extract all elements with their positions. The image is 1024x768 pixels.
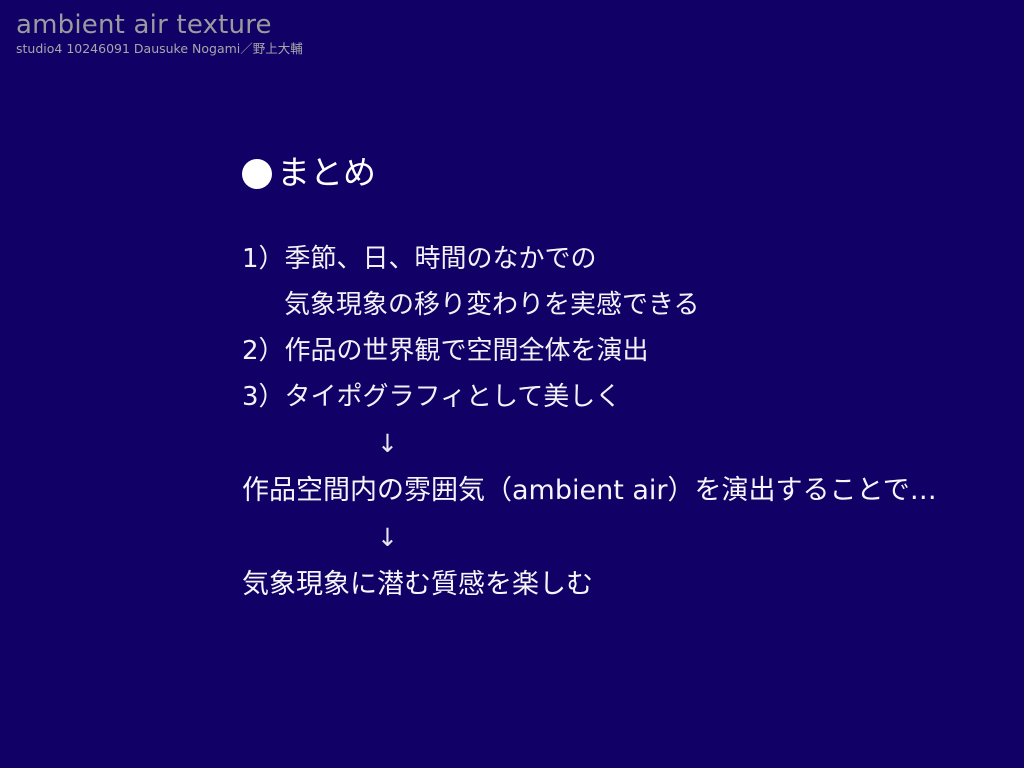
point-number: 2）	[242, 336, 285, 366]
point-text: タイポグラフィとして美しく	[285, 382, 622, 412]
list-item: 2）作品の世界観で空間全体を演出	[242, 328, 982, 374]
point-text: 季節、日、時間のなかでの	[285, 244, 597, 274]
point-text-continued: 気象現象の移り変わりを実感できる	[242, 282, 982, 328]
down-arrow-icon: ↓	[242, 422, 982, 466]
deck-title: ambient air texture	[16, 10, 616, 40]
section-heading-label: まとめ	[277, 152, 376, 194]
down-arrow-icon: ↓	[242, 516, 982, 560]
point-number: 1）	[242, 244, 285, 274]
point-text: 作品の世界観で空間全体を演出	[285, 336, 649, 366]
list-item: 1）季節、日、時間のなかでの 気象現象の移り変わりを実感できる	[242, 236, 982, 328]
presentation-slide: ambient air texture studio4 10246091 Dau…	[0, 0, 1024, 768]
section-heading: まとめ	[242, 152, 982, 194]
deck-byline: studio4 10246091 Dausuke Nogami／野上大輔	[16, 41, 616, 57]
slide-body: まとめ 1）季節、日、時間のなかでの 気象現象の移り変わりを実感できる 2）作品…	[242, 152, 982, 608]
point-number: 3）	[242, 382, 285, 412]
slide-header: ambient air texture studio4 10246091 Dau…	[16, 10, 616, 57]
conclusion-line-1: 作品空間内の雰囲気（ambient air）を演出することで…	[242, 468, 982, 514]
list-item: 3）タイポグラフィとして美しく	[242, 374, 982, 420]
summary-point-list: 1）季節、日、時間のなかでの 気象現象の移り変わりを実感できる 2）作品の世界観…	[242, 236, 982, 420]
filled-circle-icon	[242, 159, 272, 189]
conclusion-line-2: 気象現象に潜む質感を楽しむ	[242, 562, 982, 608]
